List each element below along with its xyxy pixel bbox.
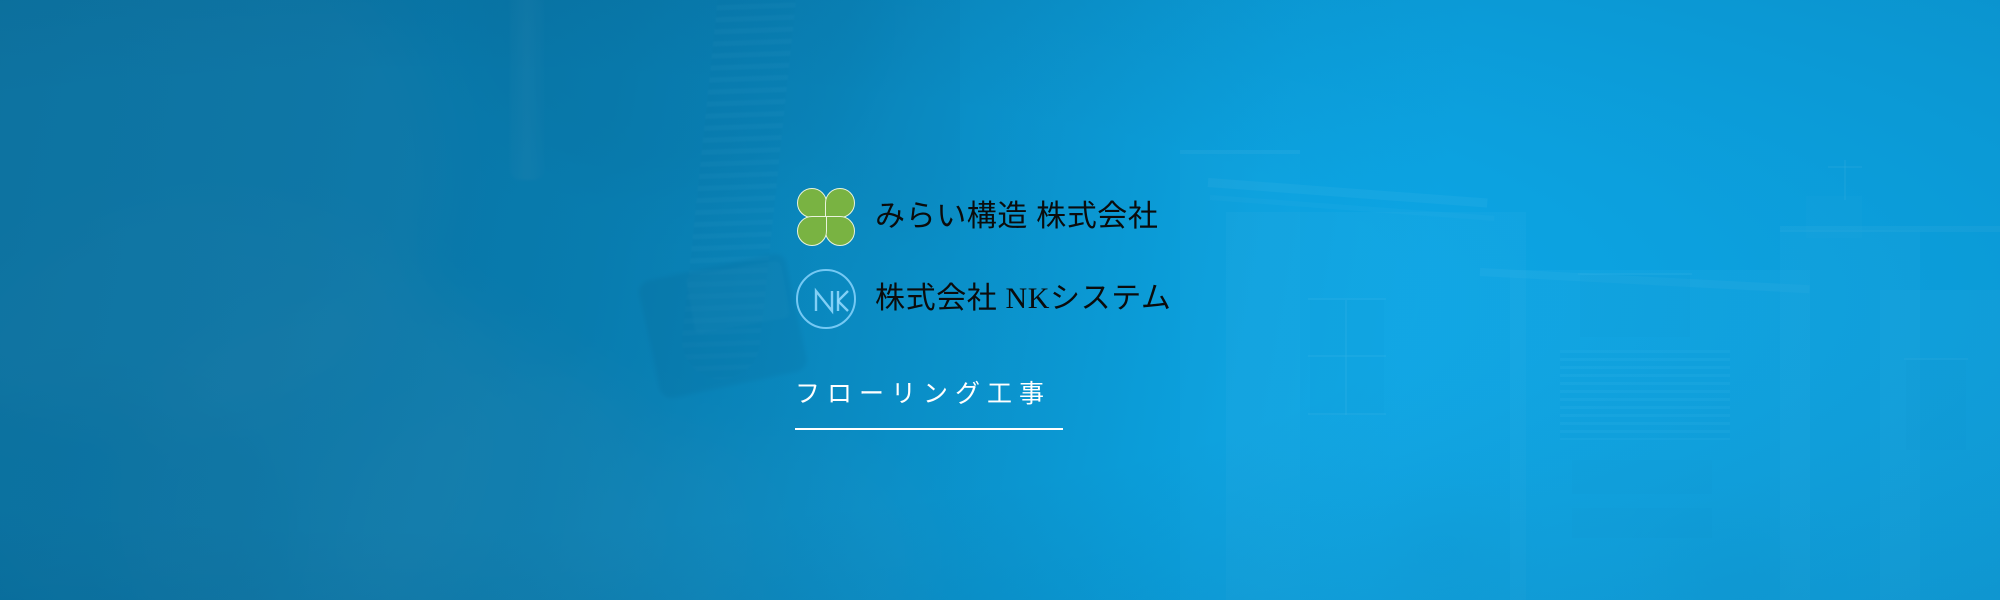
- clover-logo-icon: [795, 186, 857, 248]
- wrench-tool-shape: [637, 252, 809, 401]
- flexible-hose-shape: [678, 0, 799, 383]
- nk-circle-logo-icon: [795, 268, 857, 330]
- brand-name-nk: 株式会社 NKシステム: [875, 284, 1172, 314]
- brand-row-mirai: みらい構造 株式会社: [795, 186, 1215, 248]
- page-title: フローリング工事: [795, 374, 1215, 410]
- hero-banner: みらい構造 株式会社 株式会社 NKシステム フローリング工事: [0, 0, 2000, 600]
- hero-content: みらい構造 株式会社 株式会社 NKシステム フローリング工事: [795, 186, 1215, 430]
- title-underline: [795, 428, 1063, 430]
- faucet-shape: [510, 0, 544, 180]
- tool-highlight-shape: [686, 260, 791, 334]
- brand-row-nk: 株式会社 NKシステム: [795, 268, 1215, 330]
- brand-name-mirai: みらい構造 株式会社: [875, 202, 1159, 232]
- residential-buildings-photo: [1180, 0, 2000, 600]
